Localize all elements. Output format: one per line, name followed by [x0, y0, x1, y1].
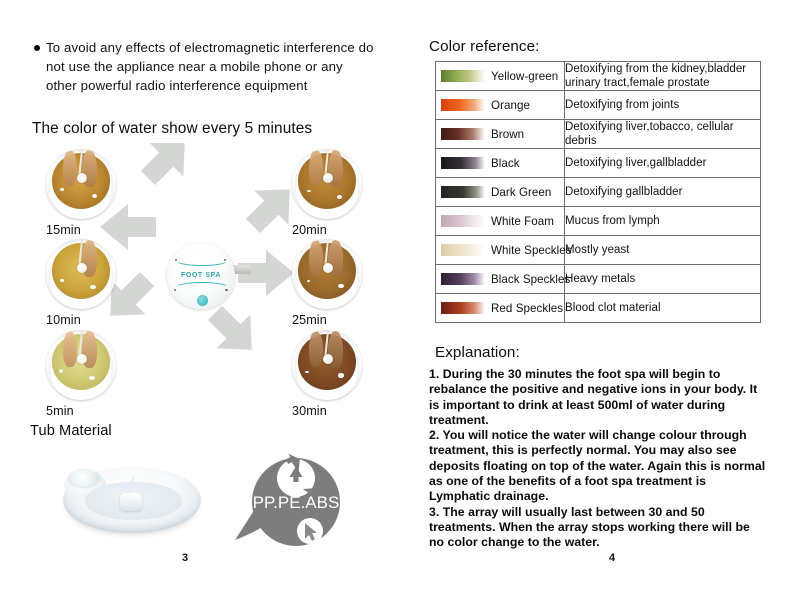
explanation-item-3: 3. The array will usually last between 3… [429, 505, 767, 551]
bowl-25min: 25min [292, 239, 362, 309]
explanation-item-2: 2. You will notice the water will change… [429, 428, 767, 504]
color-name: Black [491, 157, 520, 170]
foam-fleck [92, 194, 97, 198]
bowl-photo [46, 239, 116, 309]
device-dot [225, 289, 227, 291]
bowl-5min: 5min [46, 330, 116, 400]
color-description: Heavy metals [565, 265, 761, 294]
color-name: Brown [491, 128, 524, 141]
tub-array-module [120, 493, 142, 511]
bowl-label: 10min [46, 313, 120, 327]
explanation-body: 1. During the 30 minutes the foot spa wi… [429, 367, 767, 551]
right-page: Color reference: Yellow-green Detoxifyin… [410, 0, 800, 590]
recycle-material-bubble: PP.PE.ABS [222, 452, 352, 552]
warning-bullet-text: To avoid any effects of electromagnetic … [46, 38, 374, 95]
color-cell: Yellow-green [436, 62, 565, 91]
color-description: Detoxifying from joints [565, 91, 761, 120]
table-row: Dark Green Detoxifying gallbladder [436, 178, 761, 207]
bowl-label: 15min [46, 223, 120, 237]
color-name: Dark Green [491, 186, 551, 199]
color-cell: White Speckles [436, 236, 565, 265]
foam-fleck [338, 284, 344, 288]
color-description: Detoxifying liver,gallbladder [565, 149, 761, 178]
foot-left [309, 240, 323, 276]
color-swatch [441, 244, 485, 256]
water-color-heading: The color of water show every 5 minutes [32, 120, 312, 138]
foam-fleck [60, 279, 64, 282]
color-name: Black Speckles [491, 273, 570, 286]
foam-fleck [90, 285, 96, 289]
foam-fleck [338, 373, 344, 377]
bowl-20min: 20min [292, 149, 362, 219]
device-brand-label: FOOT SPA [167, 272, 235, 279]
water-color-diagram: 15min 20min [30, 143, 390, 418]
device-power-button[interactable] [197, 295, 208, 306]
color-description: Detoxifying liver,tobacco, cellular debr… [565, 120, 761, 149]
explanation-item-1: 1. During the 30 minutes the foot spa wi… [429, 367, 767, 428]
foot-left [309, 150, 323, 186]
color-swatch [441, 302, 485, 314]
color-name: Yellow-green [491, 70, 558, 83]
table-row: Yellow-green Detoxifying from the kidney… [436, 62, 761, 91]
table-row: White Foam Mucus from lymph [436, 207, 761, 236]
bowl-label: 20min [292, 223, 366, 237]
warning-bullet: To avoid any effects of electromagnetic … [34, 38, 374, 95]
foot-left [309, 331, 323, 367]
table-row: Orange Detoxifying from joints [436, 91, 761, 120]
device-arc-top [175, 254, 229, 267]
foam-fleck [60, 188, 64, 191]
table-row: White Speckles Mostly yeast [436, 236, 761, 265]
color-swatch [441, 215, 485, 227]
color-cell: White Foam [436, 207, 565, 236]
bowl-photo [292, 149, 362, 219]
color-reference-table-body: Yellow-green Detoxifying from the kidney… [436, 62, 761, 323]
color-swatch [441, 128, 485, 140]
color-description: Detoxifying gallbladder [565, 178, 761, 207]
left-page: To avoid any effects of electromagnetic … [0, 0, 410, 590]
color-swatch [441, 186, 485, 198]
color-cell: Black Speckles [436, 265, 565, 294]
tub-basin [63, 467, 201, 533]
color-description: Detoxifying from the kidney,bladder urin… [565, 62, 761, 91]
color-cell: Black [436, 149, 565, 178]
page-number-left: 3 [182, 552, 188, 564]
table-row: Black Detoxifying liver,gallbladder [436, 149, 761, 178]
bowl-photo [46, 330, 116, 400]
device-body: FOOT SPA [167, 243, 235, 309]
manual-spread: To avoid any effects of electromagnetic … [0, 0, 800, 590]
color-cell: Brown [436, 120, 565, 149]
color-name: Orange [491, 99, 530, 112]
tub-photo [55, 455, 207, 547]
bowl-photo [46, 149, 116, 219]
tub-material-heading: Tub Material [30, 423, 112, 439]
color-name: White Speckles [491, 244, 572, 257]
color-swatch [441, 157, 485, 169]
control-device: FOOT SPA [167, 243, 235, 309]
foot-left [63, 240, 77, 276]
table-row: Red Speckles Blood clot material [436, 294, 761, 323]
color-description: Mucus from lymph [565, 207, 761, 236]
table-row: Black Speckles Heavy metals [436, 265, 761, 294]
color-reference-table: Yellow-green Detoxifying from the kidney… [435, 61, 761, 323]
color-name: White Foam [491, 215, 554, 228]
bowl-label: 30min [292, 404, 366, 418]
color-cell: Red Speckles [436, 294, 565, 323]
tub-remote-pad [69, 470, 99, 487]
foot-left [63, 150, 77, 186]
device-arc-bottom [175, 282, 229, 295]
bowl-30min: 30min [292, 330, 362, 400]
bullet-dot-icon [34, 45, 40, 51]
bowl-photo [292, 330, 362, 400]
arrow-up-left [131, 143, 202, 195]
foam-fleck [59, 369, 63, 373]
color-cell: Dark Green [436, 178, 565, 207]
color-name: Red Speckles [491, 302, 563, 315]
device-dot [174, 289, 176, 291]
bowl-label: 5min [46, 404, 120, 418]
foot-left [63, 331, 77, 367]
color-swatch [441, 273, 485, 285]
color-swatch [441, 99, 485, 111]
color-description: Mostly yeast [565, 236, 761, 265]
color-cell: Orange [436, 91, 565, 120]
bowl-label: 25min [292, 313, 366, 327]
color-swatch [441, 70, 485, 82]
table-row: Brown Detoxifying liver,tobacco, cellula… [436, 120, 761, 149]
bowl-photo [292, 239, 362, 309]
color-description: Blood clot material [565, 294, 761, 323]
page-number-right: 4 [609, 552, 615, 564]
bowl-10min: 10min [46, 239, 116, 309]
recycle-material-label: PP.PE.ABS [253, 493, 340, 512]
explanation-heading: Explanation: [435, 344, 520, 361]
color-reference-heading: Color reference: [429, 38, 540, 55]
bowl-15min: 15min [46, 149, 116, 219]
